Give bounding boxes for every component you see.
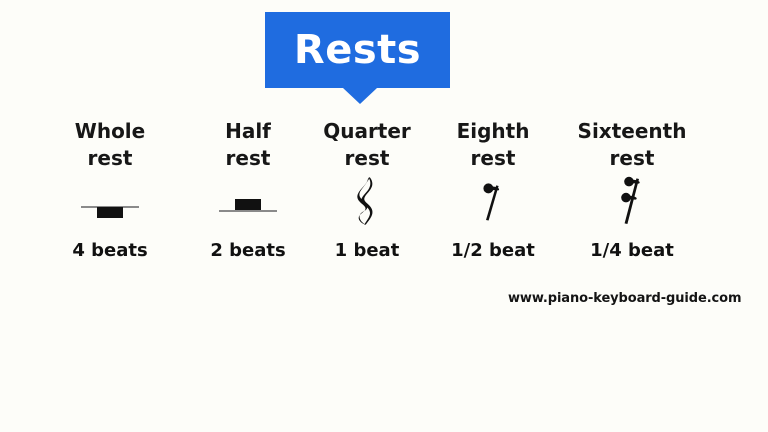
rest-duration-eighth: 1/2 beat	[418, 240, 568, 261]
rest-duration-sixteenth: 1/4 beat	[557, 240, 707, 261]
sixteenth-rest-shape	[618, 174, 646, 236]
rest-column-whole: Whole rest 4 beats	[35, 118, 185, 261]
eighth-rest-shape	[480, 180, 506, 234]
rest-name-sixteenth: Sixteenth rest	[557, 118, 707, 172]
rests-chart-figure: Rests Whole rest 4 beats Half rest	[0, 0, 768, 432]
half-rest-block	[235, 199, 261, 210]
whole-rest-icon	[35, 178, 185, 240]
rest-column-eighth: Eighth rest 1/2 beat	[418, 118, 568, 261]
rest-name-whole: Whole rest	[35, 118, 185, 172]
rest-name-line2: rest	[557, 145, 707, 172]
sixteenth-rest-icon	[557, 178, 707, 240]
rest-name-line1: Eighth	[418, 118, 568, 145]
page-title: Rests	[294, 30, 421, 70]
rest-name-line1: Whole	[35, 118, 185, 145]
staff-line	[219, 210, 277, 212]
rest-name-eighth: Eighth rest	[418, 118, 568, 172]
rest-name-line2: rest	[418, 145, 568, 172]
quarter-rest-shape	[352, 176, 382, 236]
rest-columns: Whole rest 4 beats Half rest 2 beats	[0, 118, 768, 288]
rest-name-line2: rest	[35, 145, 185, 172]
rest-duration-whole: 4 beats	[35, 240, 185, 261]
eighth-rest-icon	[418, 178, 568, 240]
watermark-url: www.piano-keyboard-guide.com	[508, 291, 741, 306]
title-banner: Rests	[265, 12, 450, 88]
banner-pointer-triangle	[343, 88, 377, 104]
whole-rest-block	[97, 207, 123, 218]
rest-name-line1: Sixteenth	[557, 118, 707, 145]
rest-column-sixteenth: Sixteenth rest 1/4 beat	[557, 118, 707, 261]
